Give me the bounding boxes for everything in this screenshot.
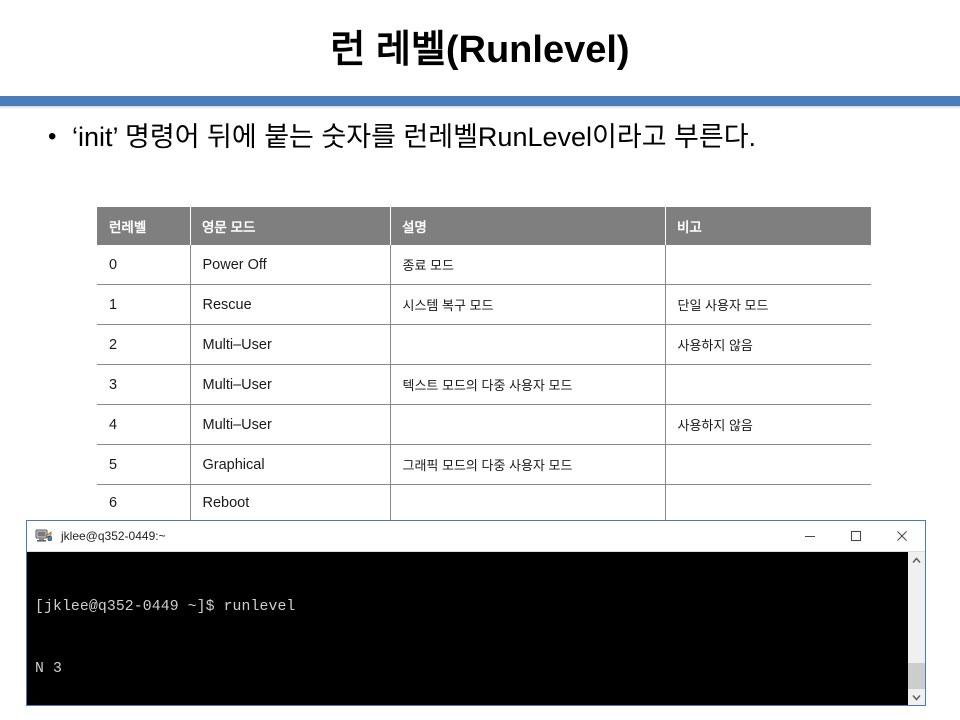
page-title: 런 레벨(Runlevel): [0, 30, 960, 72]
table-row: 5 Graphical 그래픽 모드의 다중 사용자 모드: [97, 445, 871, 485]
cell-description: [390, 325, 665, 365]
terminal-scrollbar[interactable]: [907, 552, 925, 706]
bullet-marker: •: [48, 118, 72, 156]
putty-icon: [35, 527, 53, 545]
scrollbar-track[interactable]: [908, 569, 925, 689]
cell-description: 종료 모드: [390, 245, 665, 285]
table-row: 6 Reboot: [97, 485, 871, 522]
cell-runlevel: 3: [97, 365, 190, 405]
cell-note: [665, 365, 871, 405]
minimize-icon[interactable]: [787, 521, 833, 551]
cell-runlevel: 5: [97, 445, 190, 485]
cell-description: 그래픽 모드의 다중 사용자 모드: [390, 445, 665, 485]
terminal-body[interactable]: [jklee@q352-0449 ~]$ runlevel N 3 [jklee…: [27, 552, 925, 706]
title-accent-rule: [0, 96, 960, 106]
cell-note: [665, 485, 871, 522]
bullet-item-text: ‘init’ 명령어 뒤에 붙는 숫자를 런레벨RunLevel이라고 부른다.: [72, 118, 928, 156]
column-header-runlevel: 런레벨: [97, 207, 190, 245]
terminal-line: [jklee@q352-0449 ~]$ runlevel: [35, 597, 907, 618]
table-row: 3 Multi–User 텍스트 모드의 다중 사용자 모드: [97, 365, 871, 405]
cell-description: 시스템 복구 모드: [390, 285, 665, 325]
cell-mode: Power Off: [190, 245, 390, 285]
scroll-down-icon[interactable]: [908, 689, 925, 706]
terminal-titlebar[interactable]: jklee@q352-0449:~: [27, 521, 925, 552]
table-header-row: 런레벨 영문 모드 설명 비고: [97, 207, 871, 245]
table-row: 1 Rescue 시스템 복구 모드 단일 사용자 모드: [97, 285, 871, 325]
title-accent-rule-shadow: [0, 106, 960, 109]
cell-description: [390, 485, 665, 522]
terminal-line: N 3: [35, 659, 907, 680]
table-row: 2 Multi–User 사용하지 않음: [97, 325, 871, 365]
scroll-up-icon[interactable]: [908, 552, 925, 569]
cell-note: 사용하지 않음: [665, 405, 871, 445]
scrollbar-thumb[interactable]: [908, 663, 925, 689]
cell-mode: Reboot: [190, 485, 390, 522]
cell-description: [390, 405, 665, 445]
cell-mode: Rescue: [190, 285, 390, 325]
table-row: 4 Multi–User 사용하지 않음: [97, 405, 871, 445]
cell-mode: Graphical: [190, 445, 390, 485]
cell-runlevel: 2: [97, 325, 190, 365]
column-header-note: 비고: [665, 207, 871, 245]
cell-runlevel: 0: [97, 245, 190, 285]
terminal-window[interactable]: jklee@q352-0449:~ [jklee@q352-0449 ~]$ r…: [26, 520, 926, 706]
table-row: 0 Power Off 종료 모드: [97, 245, 871, 285]
cell-description: 텍스트 모드의 다중 사용자 모드: [390, 365, 665, 405]
cell-runlevel: 1: [97, 285, 190, 325]
cell-mode: Multi–User: [190, 325, 390, 365]
cell-note: 단일 사용자 모드: [665, 285, 871, 325]
cell-note: [665, 245, 871, 285]
cell-mode: Multi–User: [190, 365, 390, 405]
window-controls: [787, 521, 925, 551]
bullet-item: • ‘init’ 명령어 뒤에 붙는 숫자를 런레벨RunLevel이라고 부른…: [48, 118, 928, 156]
cell-note: [665, 445, 871, 485]
runlevel-table: 런레벨 영문 모드 설명 비고 0 Power Off 종료 모드 1 Resc…: [97, 207, 871, 522]
terminal-output[interactable]: [jklee@q352-0449 ~]$ runlevel N 3 [jklee…: [27, 552, 907, 706]
column-header-description: 설명: [390, 207, 665, 245]
cell-runlevel: 6: [97, 485, 190, 522]
column-header-mode: 영문 모드: [190, 207, 390, 245]
maximize-icon[interactable]: [833, 521, 879, 551]
cell-note: 사용하지 않음: [665, 325, 871, 365]
cell-mode: Multi–User: [190, 405, 390, 445]
terminal-title: jklee@q352-0449:~: [61, 529, 787, 543]
cell-runlevel: 4: [97, 405, 190, 445]
close-icon[interactable]: [879, 521, 925, 551]
